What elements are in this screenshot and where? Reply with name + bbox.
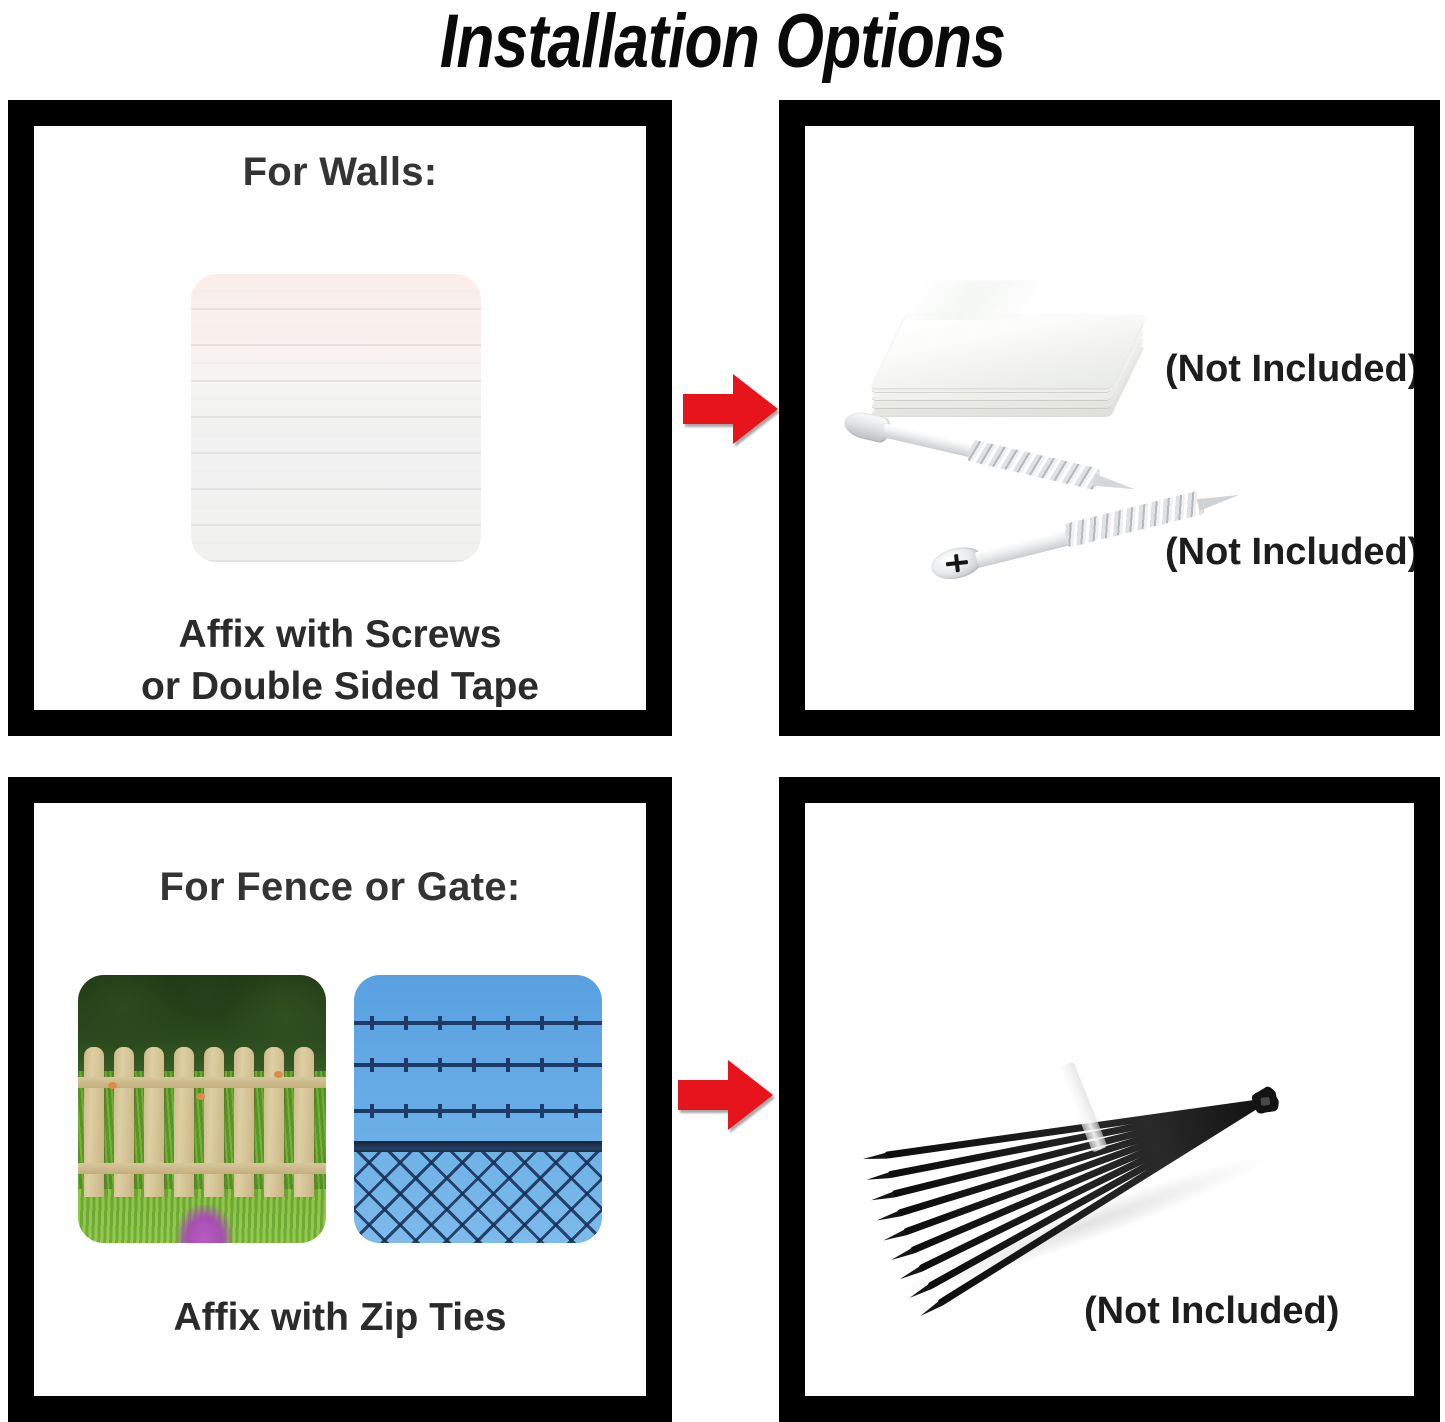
fence-picket — [114, 1047, 134, 1197]
walls-caption-line-1: Affix with Screws — [34, 610, 646, 660]
barbed-wire-strand — [354, 1021, 602, 1025]
chain-link-mesh — [354, 1152, 602, 1243]
screw-tip — [1197, 489, 1241, 511]
fence-picket — [294, 1047, 314, 1197]
panel-for-walls: For Walls: Affix with Screws or Double S… — [8, 100, 672, 736]
fence-rail — [78, 1163, 326, 1174]
tape-sheen — [903, 280, 1072, 320]
fence-picket — [144, 1047, 164, 1197]
walls-caption-line-2: or Double Sided Tape — [34, 662, 646, 712]
fence-picket — [204, 1047, 224, 1197]
zip-tie-tip — [876, 1211, 901, 1224]
zip-tie-bundle-image — [853, 913, 1343, 1313]
panel-wall-hardware: (Not Included) (Not Included) — [779, 100, 1440, 736]
barbed-wire-strand — [354, 1063, 602, 1067]
white-brick-wall-image — [191, 274, 481, 562]
zip-tie-tip — [866, 1172, 891, 1182]
fence-picket — [174, 1047, 194, 1197]
barbed-wire-strand — [354, 1109, 602, 1113]
ziptie-not-included-label: (Not Included) — [1084, 1290, 1339, 1333]
page-title: Installation Options — [130, 0, 1315, 96]
walls-heading: For Walls: — [34, 150, 646, 195]
zip-tie-tip — [919, 1301, 943, 1319]
zip-tie-tip — [870, 1192, 895, 1204]
fence-picket — [84, 1047, 104, 1197]
screw-tip — [1093, 474, 1137, 495]
screw-thread — [967, 439, 1101, 490]
fence-picket — [264, 1047, 284, 1197]
panel-zip-ties: (Not Included) — [779, 777, 1440, 1422]
red-right-arrow-icon — [678, 1058, 774, 1132]
panel-for-fence-or-gate: For Fence or Gate: — [8, 777, 672, 1422]
fence-heading: For Fence or Gate: — [34, 865, 646, 910]
picket-group — [78, 975, 326, 1243]
zip-tie-tip — [882, 1229, 907, 1243]
fence-picket — [234, 1047, 254, 1197]
zip-tie-tip — [890, 1248, 914, 1263]
zip-tie-head — [1254, 1090, 1279, 1114]
double-sided-tape-stack-image — [861, 234, 1129, 402]
chain-link-fence-photo — [354, 975, 602, 1243]
zip-tie-tip — [863, 1153, 888, 1162]
flower — [196, 1093, 205, 1100]
fence-caption: Affix with Zip Ties — [34, 1293, 646, 1343]
red-right-arrow-icon — [683, 372, 779, 446]
screw-not-included-label: (Not Included) — [1165, 531, 1420, 574]
tape-not-included-label: (Not Included) — [1165, 348, 1420, 391]
tape-layer-top — [871, 315, 1147, 388]
screw-upper-image — [842, 409, 1140, 502]
screw-shank — [882, 423, 975, 457]
phillips-cross-icon — [945, 553, 968, 573]
picket-fence-photo — [78, 975, 326, 1243]
screw-shank — [975, 529, 1072, 568]
